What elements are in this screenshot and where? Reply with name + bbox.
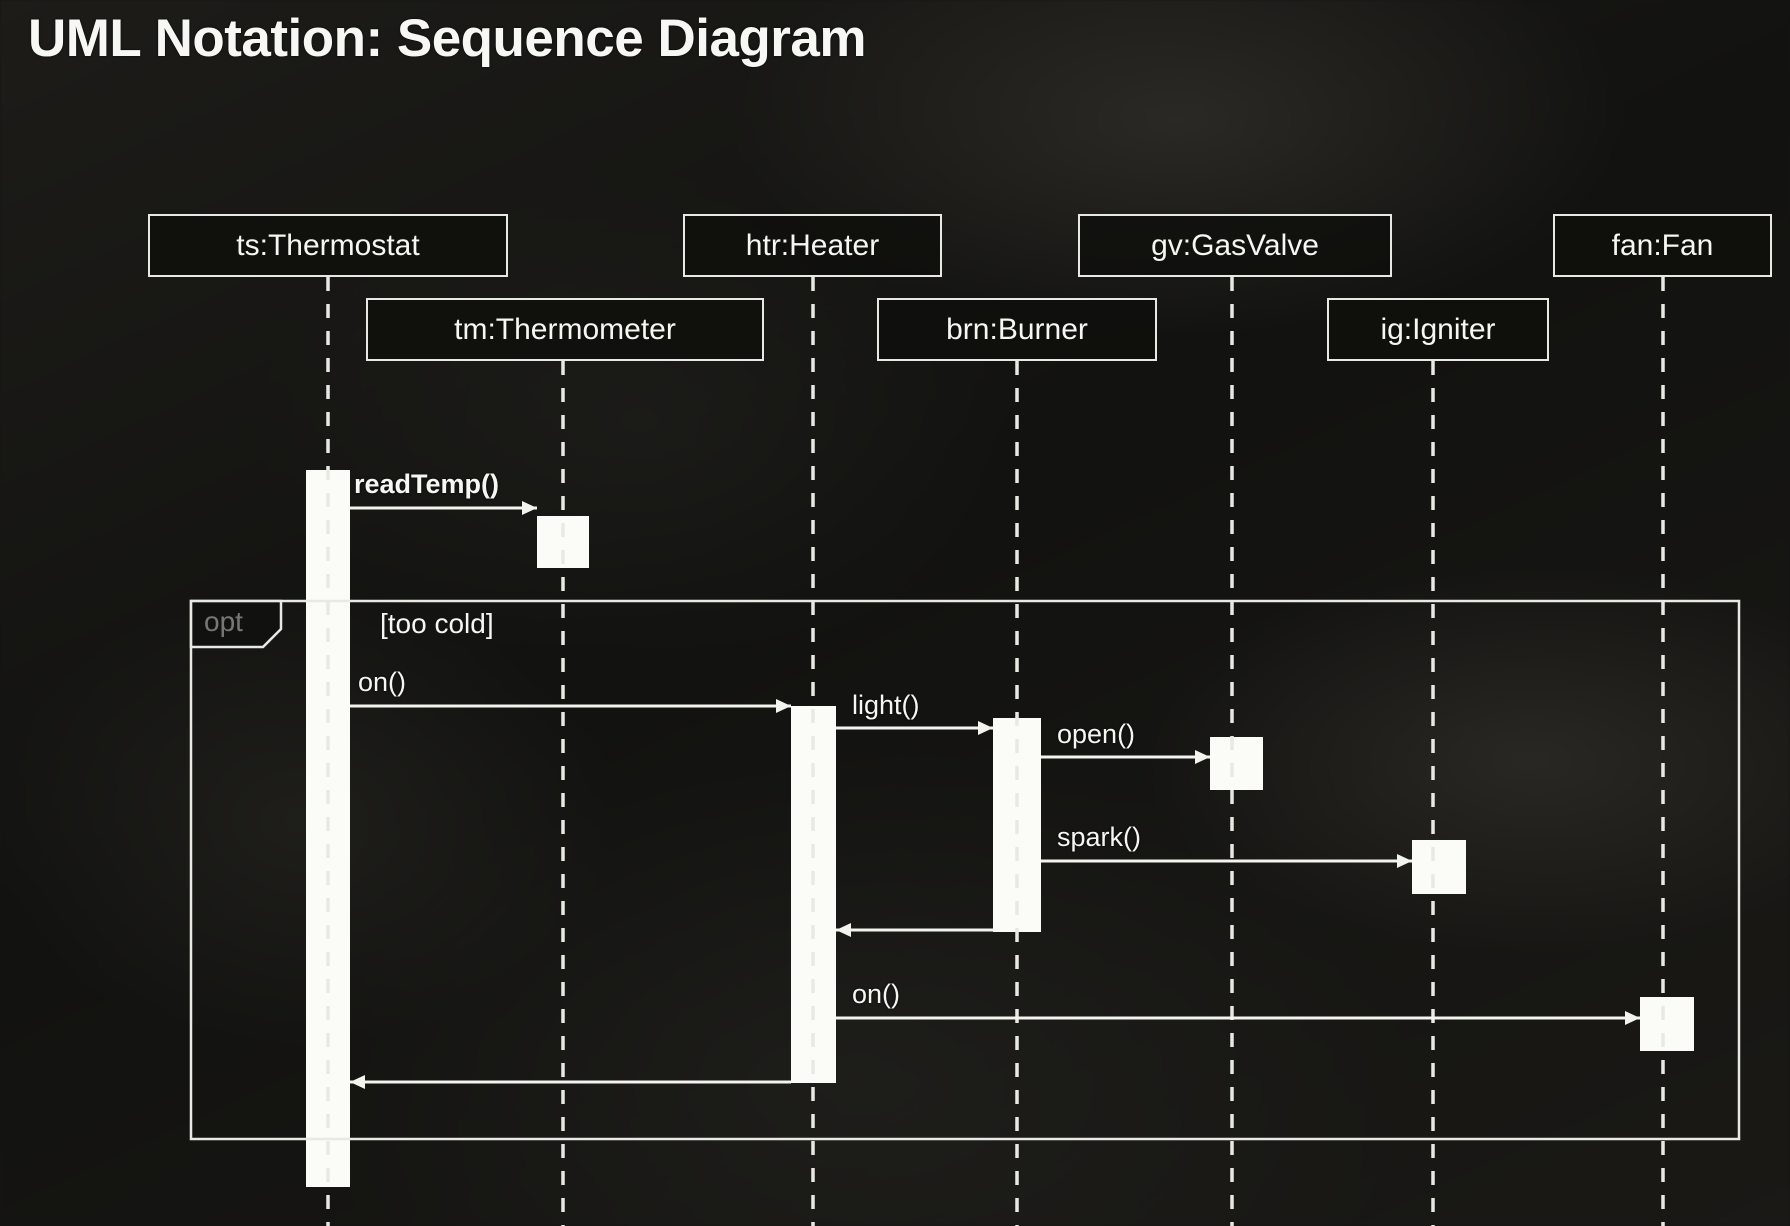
activation-bar-tm[interactable]	[537, 516, 589, 568]
message-label-m5: spark()	[1057, 822, 1141, 853]
lifeline-label-ig: ig:Igniter	[1380, 313, 1495, 347]
activation-bar-gv[interactable]	[1210, 737, 1263, 790]
activation-bar-ts[interactable]	[306, 470, 350, 1187]
lifeline-label-gv: gv:GasValve	[1151, 229, 1319, 263]
lifeline-label-fan: fan:Fan	[1612, 229, 1714, 263]
message-label-m2: on()	[358, 667, 406, 698]
activation-bar-fan[interactable]	[1640, 997, 1694, 1051]
diagram-stage: UML Notation: Sequence Diagram ts:Thermo…	[0, 0, 1790, 1226]
page-title: UML Notation: Sequence Diagram	[28, 8, 866, 69]
opt-operator-label: opt	[204, 606, 243, 638]
lifeline-label-tm: tm:Thermometer	[454, 313, 676, 347]
message-label-m7: on()	[852, 979, 900, 1010]
activation-bar-brn[interactable]	[993, 718, 1041, 932]
lifeline-head-ig[interactable]: ig:Igniter	[1327, 298, 1549, 361]
activation-bar-ig[interactable]	[1412, 840, 1466, 894]
lifeline-head-fan[interactable]: fan:Fan	[1553, 214, 1772, 277]
opt-guard-condition: [too cold]	[380, 608, 494, 640]
lifeline-head-tm[interactable]: tm:Thermometer	[366, 298, 764, 361]
lifeline-label-ts: ts:Thermostat	[236, 229, 419, 263]
lifeline-label-brn: brn:Burner	[946, 313, 1088, 347]
message-label-m1: readTemp()	[354, 469, 499, 500]
lifeline-head-brn[interactable]: brn:Burner	[877, 298, 1157, 361]
lifeline-head-ts[interactable]: ts:Thermostat	[148, 214, 508, 277]
lifeline-label-htr: htr:Heater	[746, 229, 879, 263]
message-label-m3: light()	[852, 690, 920, 721]
lifeline-head-htr[interactable]: htr:Heater	[683, 214, 942, 277]
activation-bar-htr[interactable]	[791, 706, 836, 1083]
message-label-m4: open()	[1057, 719, 1135, 750]
lifeline-head-gv[interactable]: gv:GasValve	[1078, 214, 1392, 277]
